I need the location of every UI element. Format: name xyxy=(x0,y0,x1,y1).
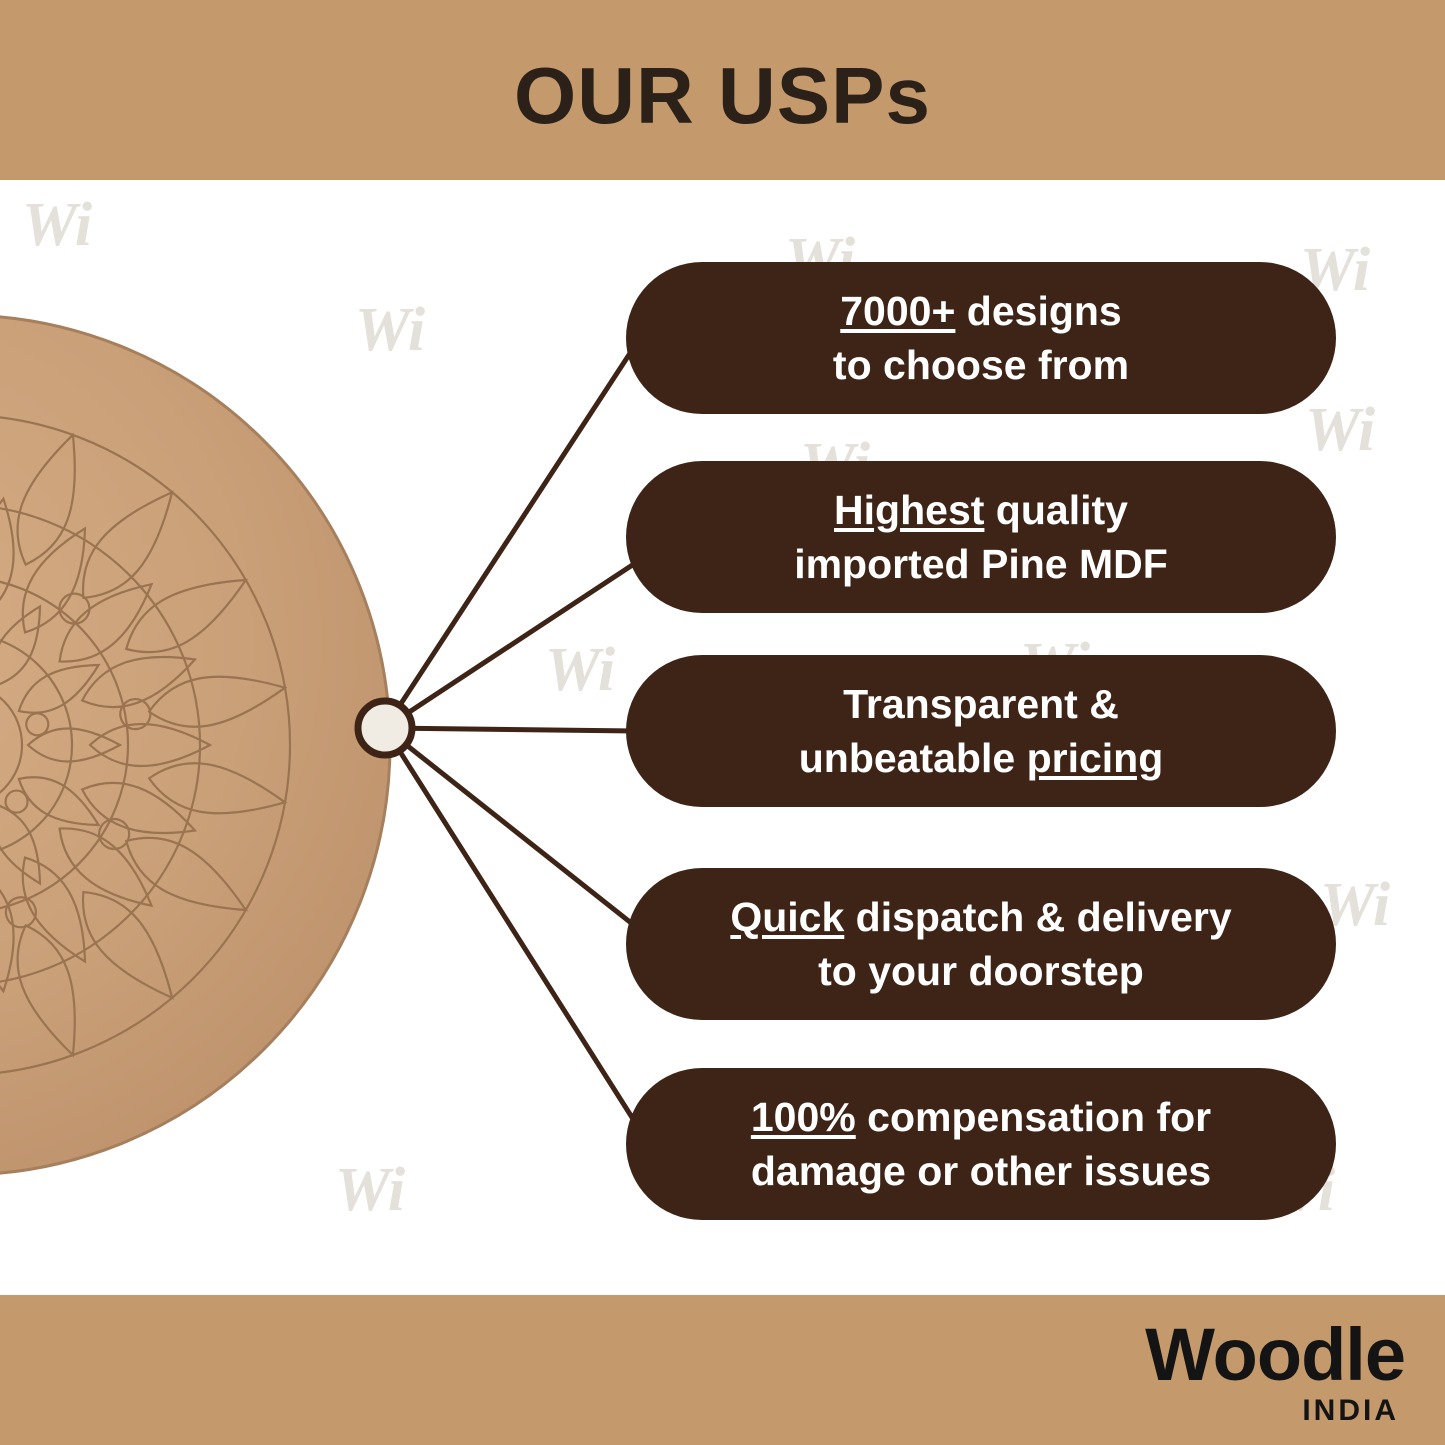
connector-line-5 xyxy=(385,728,640,1130)
usp-pill-4-line1-rest: dispatch & delivery xyxy=(844,894,1231,940)
usp-pill-4-line1: Quick dispatch & delivery xyxy=(730,890,1231,944)
usp-pill-3-line1: Transparent & xyxy=(799,677,1164,731)
usp-pill-1-line1-rest: designs xyxy=(955,288,1121,334)
usp-pill-2[interactable]: Highest quality imported Pine MDF xyxy=(626,461,1336,613)
connector-line-2 xyxy=(385,560,640,728)
usp-pill-2-line1-rest: quality xyxy=(984,487,1128,533)
connector-line-1 xyxy=(385,338,640,728)
usp-pill-1-line2: to choose from xyxy=(833,338,1129,392)
usp-pill-3-text: Transparent & unbeatable pricing xyxy=(799,677,1164,785)
usp-pill-1[interactable]: 7000+ designs to choose from xyxy=(626,262,1336,414)
usp-pill-4-line2: to your doorstep xyxy=(730,944,1231,998)
usp-pill-5-highlight: 100% xyxy=(751,1094,856,1140)
usp-pill-3[interactable]: Transparent & unbeatable pricing xyxy=(626,655,1336,807)
usp-pill-5-text: 100% compensation for damage or other is… xyxy=(751,1090,1211,1198)
usp-pill-3-line2-pre: unbeatable xyxy=(799,735,1027,781)
usp-pill-1-highlight: 7000+ xyxy=(840,288,955,334)
brand-logo: Woodle INDIA xyxy=(1015,1318,1405,1426)
usp-pill-3-highlight: pricing xyxy=(1027,735,1164,781)
usp-pill-1-line1: 7000+ designs xyxy=(833,284,1129,338)
usp-pill-5[interactable]: 100% compensation for damage or other is… xyxy=(626,1068,1336,1220)
connector-line-3 xyxy=(385,728,640,731)
usp-pill-2-text: Highest quality imported Pine MDF xyxy=(794,483,1168,591)
usp-pill-4-highlight: Quick xyxy=(730,894,844,940)
brand-name: Woodle xyxy=(1015,1318,1405,1392)
usp-pill-5-line2: damage or other issues xyxy=(751,1144,1211,1198)
usp-pill-1-text: 7000+ designs to choose from xyxy=(833,284,1129,392)
brand-region: INDIA xyxy=(1015,1396,1405,1426)
usp-pill-2-line2: imported Pine MDF xyxy=(794,537,1168,591)
usp-pill-5-line1: 100% compensation for xyxy=(751,1090,1211,1144)
usp-pill-2-highlight: Highest xyxy=(834,487,984,533)
usp-pill-4-text: Quick dispatch & delivery to your doorst… xyxy=(730,890,1231,998)
usp-pill-3-line2: unbeatable pricing xyxy=(799,731,1164,785)
usp-pill-2-line1: Highest quality xyxy=(794,483,1168,537)
hub-node-icon xyxy=(358,701,412,755)
connector-line-4 xyxy=(385,728,640,930)
usp-pill-5-line1-rest: compensation for xyxy=(856,1094,1211,1140)
usp-infographic-page: OUR USPs Wi Wi Wi Wi Wi Wi Wi Wi Wi Wi W… xyxy=(0,0,1445,1445)
usp-pill-4[interactable]: Quick dispatch & delivery to your doorst… xyxy=(626,868,1336,1020)
